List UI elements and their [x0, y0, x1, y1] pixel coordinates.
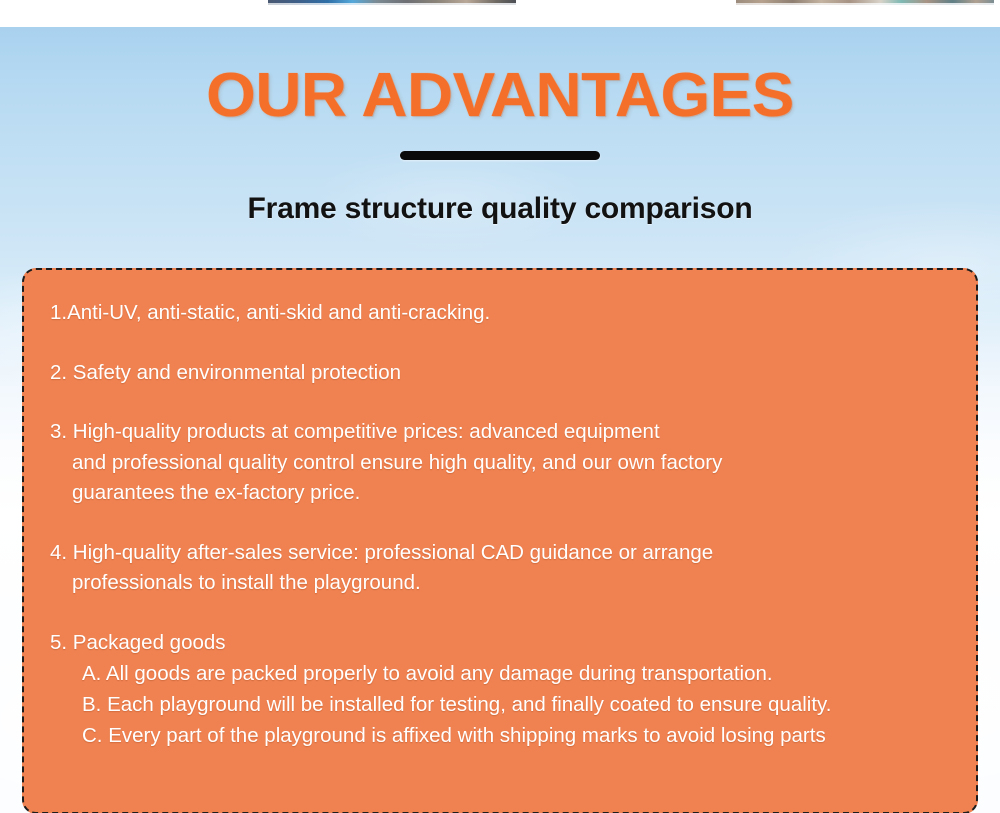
top-white-band [0, 0, 1000, 27]
cropped-product-photo-right [736, 0, 994, 5]
advantage-line: 3. High-quality products at competitive … [50, 417, 950, 448]
advantages-list: 1.Anti-UV, anti-static, anti-skid and an… [50, 298, 950, 751]
advantage-line: A. All goods are packed properly to avoi… [50, 658, 950, 689]
advantage-line: 2. Safety and environmental protection [50, 358, 950, 389]
advantage-line: 1.Anti-UV, anti-static, anti-skid and an… [50, 298, 950, 329]
title-divider [400, 151, 600, 160]
advantage-line: C. Every part of the playground is affix… [50, 720, 950, 751]
page-title: OUR ADVANTAGES [0, 63, 1000, 128]
advantage-item-5: 5. Packaged goodsA. All goods are packed… [50, 628, 950, 752]
cropped-product-photo-left [268, 0, 516, 5]
advantage-item-4: 4. High-quality after-sales service: pro… [50, 538, 950, 599]
advantage-line: professionals to install the playground. [50, 568, 950, 599]
advantages-panel: 1.Anti-UV, anti-static, anti-skid and an… [22, 268, 978, 813]
advantage-line: 5. Packaged goods [50, 628, 950, 659]
page-root: OUR ADVANTAGES Frame structure quality c… [0, 0, 1000, 813]
advantage-line: B. Each playground will be installed for… [50, 689, 950, 720]
advantage-line: guarantees the ex-factory price. [50, 478, 950, 509]
heading-block: OUR ADVANTAGES Frame structure quality c… [0, 27, 1000, 226]
advantage-item-2: 2. Safety and environmental protection [50, 358, 950, 389]
page-subtitle: Frame structure quality comparison [0, 192, 1000, 226]
advantage-item-3: 3. High-quality products at competitive … [50, 417, 950, 509]
advantage-item-1: 1.Anti-UV, anti-static, anti-skid and an… [50, 298, 950, 329]
advantage-line: and professional quality control ensure … [50, 448, 950, 479]
advantage-line: 4. High-quality after-sales service: pro… [50, 538, 950, 569]
